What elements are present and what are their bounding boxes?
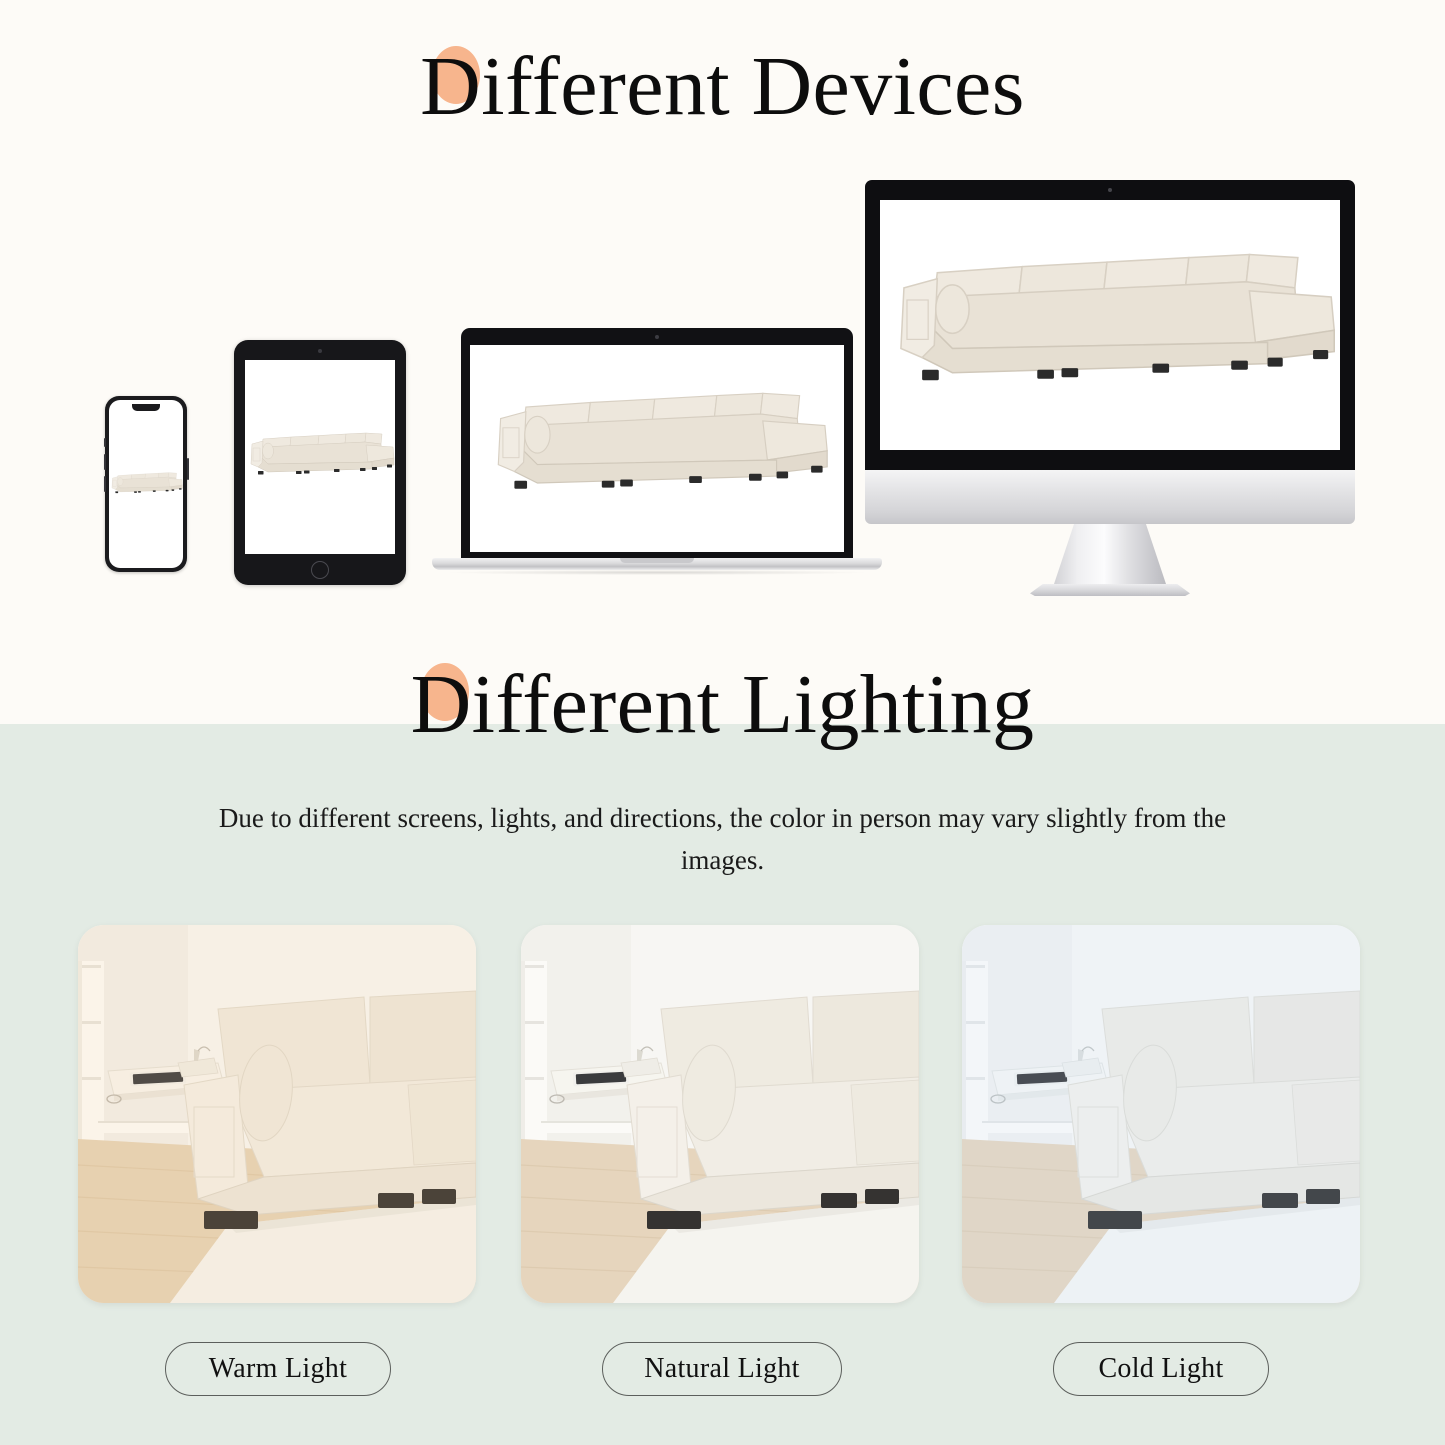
monitor-bezel: [865, 180, 1355, 470]
lighting-disclaimer-text: Due to different screens, lights, and di…: [213, 798, 1233, 882]
laptop-trackpad-notch: [620, 558, 694, 563]
phone-power-button: [187, 458, 189, 480]
page-title-devices: Different Devices: [420, 40, 1025, 133]
room-scene-cold: [962, 925, 1360, 1303]
sofa-product-image-tablet: [245, 360, 395, 554]
room-scene-natural: [521, 925, 919, 1303]
lighting-heading-container: Different Lighting: [0, 660, 1445, 751]
laptop-shadow: [450, 570, 864, 575]
device-mockup-laptop: [432, 328, 882, 590]
phone-screen: [109, 400, 183, 568]
tablet-camera-icon: [318, 349, 322, 353]
sofa-product-image-laptop: [470, 345, 844, 552]
device-mockup-monitor: [865, 180, 1355, 600]
devices-heading-container: Different Devices: [0, 42, 1445, 133]
phone-notch: [132, 404, 160, 411]
monitor-stand-neck: [1052, 524, 1168, 590]
monitor-chin: [865, 470, 1355, 524]
device-mockup-tablet: [234, 340, 406, 585]
tablet-screen: [245, 360, 395, 554]
lighting-photo-warm: [78, 925, 476, 1303]
laptop-camera-icon: [655, 335, 659, 339]
label-warm-light[interactable]: Warm Light: [165, 1342, 391, 1396]
tablet-home-button[interactable]: [311, 561, 329, 579]
monitor-screen: [880, 200, 1340, 450]
lighting-photo-cold: [962, 925, 1360, 1303]
room-scene-warm: [78, 925, 476, 1303]
device-mockup-phone: [105, 396, 187, 572]
phone-volume-up-button: [104, 454, 106, 470]
laptop-lid: [461, 328, 853, 560]
page-title-lighting: Different Lighting: [411, 658, 1035, 751]
label-cold-light[interactable]: Cold Light: [1053, 1342, 1269, 1396]
laptop-screen: [470, 345, 844, 552]
phone-silence-switch: [104, 438, 106, 447]
monitor-stand-foot: [1030, 584, 1190, 596]
phone-volume-down-button: [104, 476, 106, 492]
lighting-photo-natural: [521, 925, 919, 1303]
monitor-camera-icon: [1108, 188, 1112, 192]
sofa-product-image-phone: [109, 400, 183, 568]
sofa-product-image-monitor: [880, 200, 1340, 450]
label-natural-light[interactable]: Natural Light: [602, 1342, 842, 1396]
